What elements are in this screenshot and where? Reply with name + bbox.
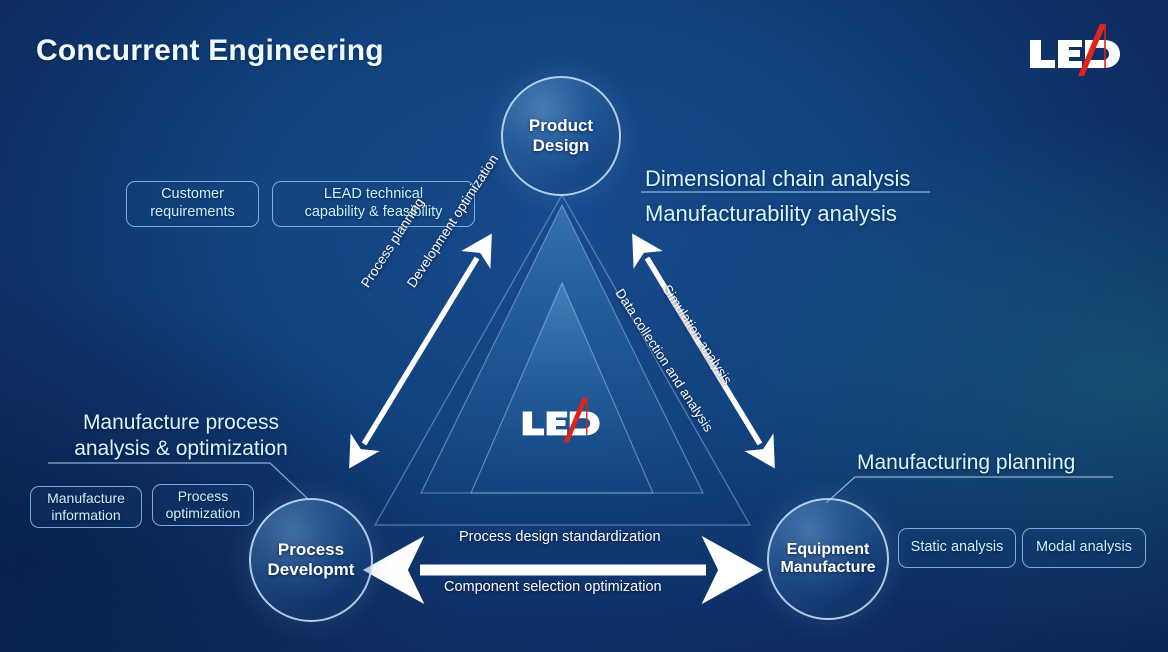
node-product-design-line1: Product — [529, 116, 593, 135]
slide-canvas: Concurrent Engineering Product Design — [0, 0, 1168, 652]
chip-customer-requirements-line2: requirements — [150, 204, 235, 220]
chip-customer-requirements[interactable]: Customer requirements — [126, 181, 259, 227]
chip-static-analysis[interactable]: Static analysis — [898, 528, 1016, 568]
callout-manufacture-process-line2: analysis & optimization — [74, 437, 288, 460]
arrow-label-process-design-standardization: Process design standardization — [459, 529, 661, 545]
chip-modal-analysis[interactable]: Modal analysis — [1022, 528, 1146, 568]
chip-manufacture-information[interactable]: Manufacture information — [30, 486, 142, 528]
arrow-label-data-collection-and-analysis: Data collection and analysis — [612, 286, 716, 435]
chip-process-optimization-line1: Process — [178, 488, 229, 504]
node-product-design[interactable]: Product Design — [501, 76, 621, 196]
chip-static-analysis-label: Static analysis — [911, 539, 1004, 557]
callout-manufacturing-planning: Manufacturing planning — [857, 451, 1075, 475]
chip-customer-requirements-line1: Customer — [161, 186, 224, 202]
callout-manufacturability-analysis: Manufacturability analysis — [645, 201, 897, 227]
page-title: Concurrent Engineering — [36, 34, 384, 68]
chip-process-optimization[interactable]: Process optimization — [152, 484, 254, 526]
node-process-development-line2: Developmt — [268, 560, 355, 579]
node-equipment-manufacture[interactable]: Equipment Manufacture — [767, 498, 889, 620]
lead-logo-center — [521, 394, 603, 446]
callout-dimensional-chain-analysis: Dimensional chain analysis — [645, 166, 910, 192]
chip-lead-technical-line1: LEAD technical — [324, 186, 423, 202]
left-diagonal-arrow-line — [364, 258, 477, 444]
node-process-development-line1: Process — [278, 540, 344, 559]
leader-line-manufacturing-planning — [826, 477, 1113, 503]
lead-logo-corner — [1028, 22, 1124, 78]
callout-manufacture-process-analysis: Manufacture process analysis & optimizat… — [50, 410, 312, 461]
node-process-development[interactable]: Process Developmt — [249, 498, 373, 622]
chip-manufacture-information-line2: information — [51, 507, 120, 523]
chip-manufacture-information-line1: Manufacture — [47, 490, 125, 506]
callout-manufacture-process-line1: Manufacture process — [83, 411, 279, 434]
node-product-design-line2: Design — [533, 136, 590, 155]
arrow-label-component-selection-optimization: Component selection optimization — [444, 579, 662, 595]
chip-modal-analysis-label: Modal analysis — [1036, 539, 1132, 557]
node-equipment-manufacture-line1: Equipment — [787, 541, 870, 558]
node-equipment-manufacture-line2: Manufacture — [780, 559, 875, 576]
chip-process-optimization-line2: optimization — [166, 505, 241, 521]
